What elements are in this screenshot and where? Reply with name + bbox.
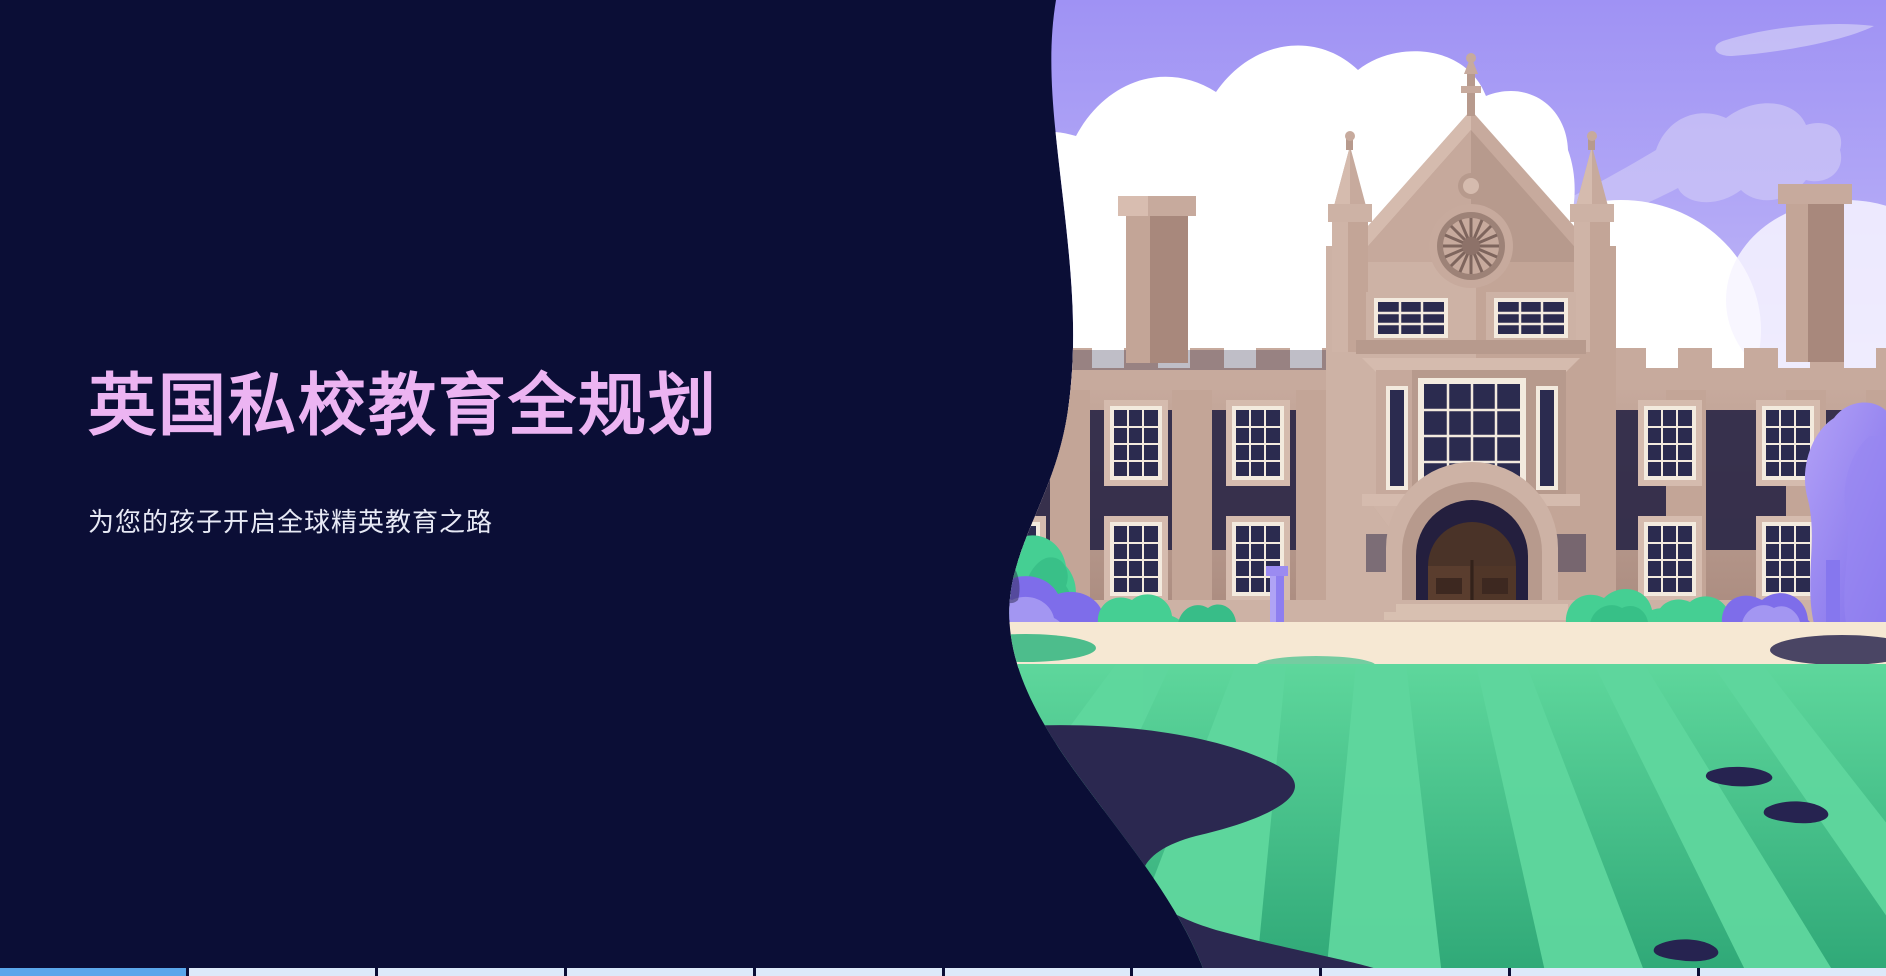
- progress-segment-7[interactable]: [1133, 968, 1322, 976]
- progress-segment-10[interactable]: [1700, 968, 1886, 976]
- page-title: 英国私校教育全规划: [88, 368, 888, 444]
- slide-progress-bar[interactable]: [0, 968, 1886, 976]
- progress-segment-1[interactable]: [0, 968, 189, 976]
- progress-segment-6[interactable]: [945, 968, 1134, 976]
- progress-segment-9[interactable]: [1511, 968, 1700, 976]
- progress-segment-8[interactable]: [1322, 968, 1511, 976]
- page-subtitle: 为您的孩子开启全球精英教育之路: [88, 504, 888, 540]
- progress-segment-3[interactable]: [378, 968, 567, 976]
- campus-illustration: [966, 0, 1886, 976]
- progress-segment-2[interactable]: [189, 968, 378, 976]
- slide-text-block: 英国私校教育全规划 为您的孩子开启全球精英教育之路: [88, 368, 888, 541]
- progress-segment-4[interactable]: [567, 968, 756, 976]
- presentation-slide: 英国私校教育全规划 为您的孩子开启全球精英教育之路: [0, 0, 1886, 976]
- progress-segment-5[interactable]: [756, 968, 945, 976]
